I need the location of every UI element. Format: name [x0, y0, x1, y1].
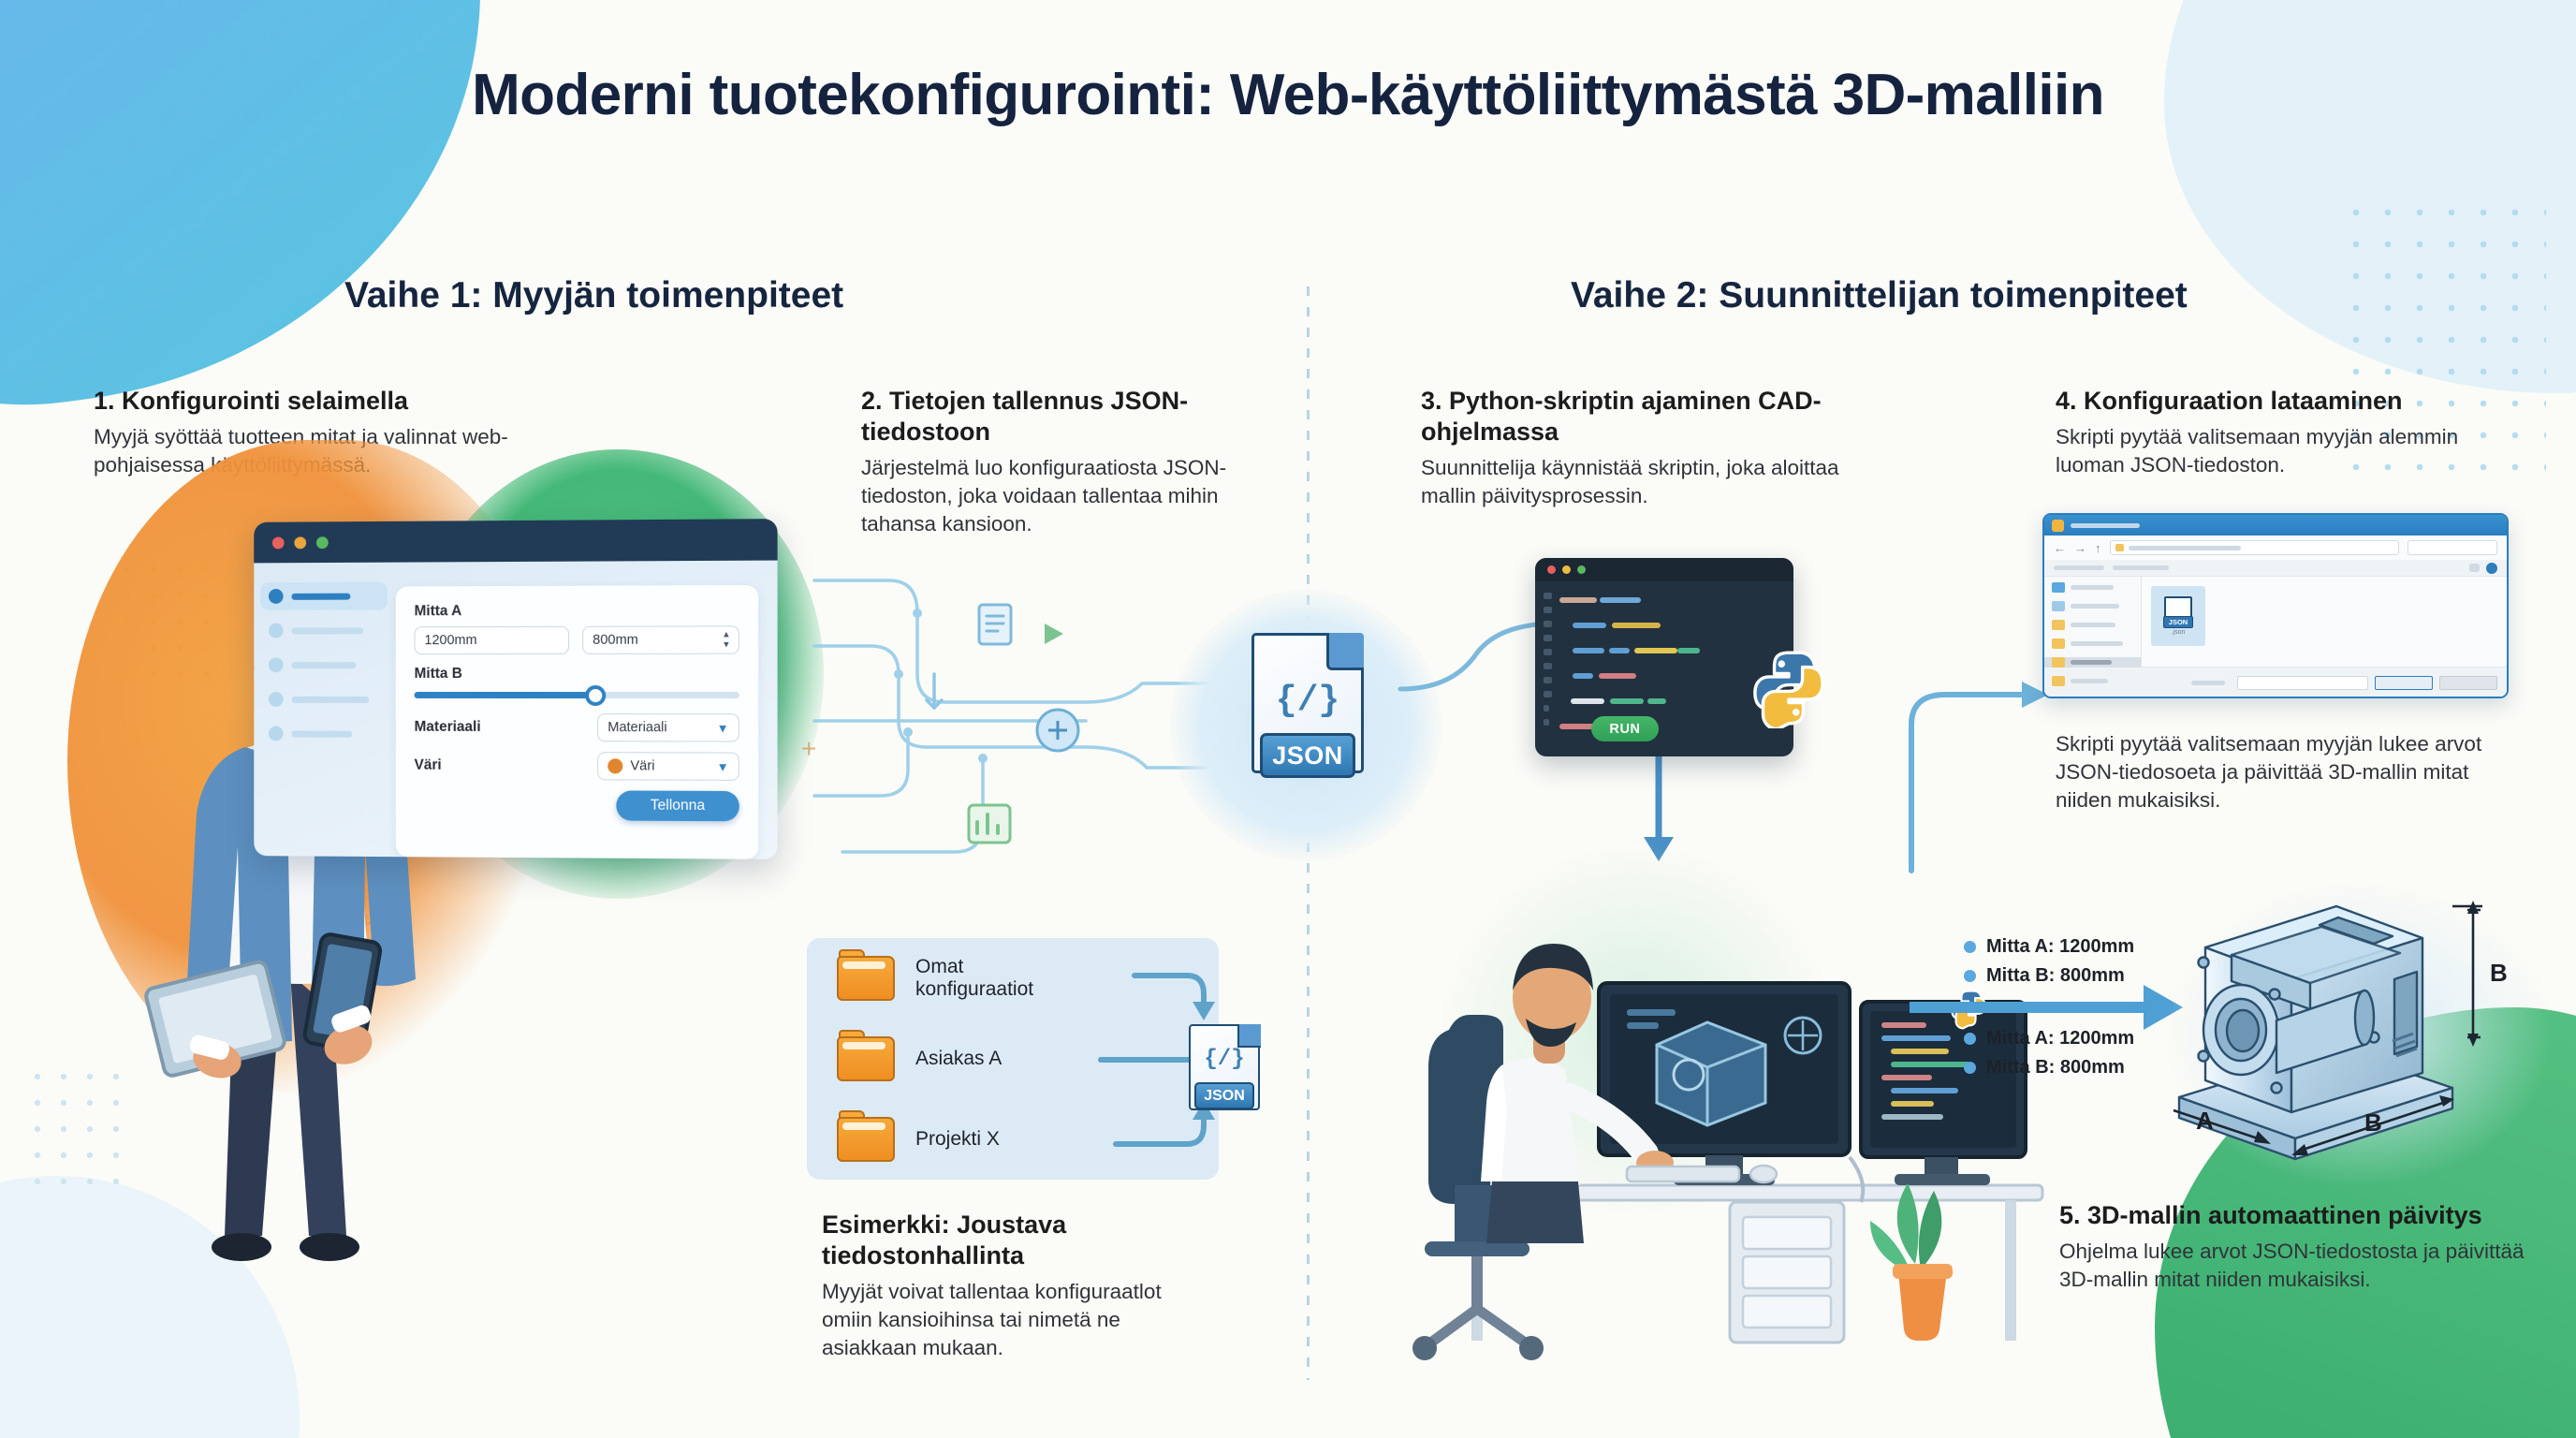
back-arrow-icon[interactable]: ← [2054, 541, 2066, 555]
code-line [1559, 617, 1782, 634]
search-input[interactable] [2408, 540, 2497, 555]
mitta-a-value: 1200mm [424, 633, 476, 648]
slider-knob[interactable] [585, 684, 606, 705]
chevron-down-icon: ▼ [717, 721, 729, 735]
sidebar-item[interactable] [269, 692, 379, 707]
mitta-b-label: Mitta B [415, 666, 739, 682]
sidebar-label-placeholder [291, 593, 350, 599]
color-swatch-icon [607, 758, 622, 773]
window-close-icon[interactable] [272, 536, 285, 549]
step-5-heading: 5. 3D-mallin automaattinen päivitys [2059, 1200, 2527, 1231]
json-file-tag: JSON [1194, 1082, 1254, 1109]
code-braces-icon: {/} [1191, 1047, 1258, 1072]
example-block: Esimerkki: Joustava tiedostonhallinta My… [822, 1210, 1215, 1362]
vari-row: Väri Väri ▼ [415, 752, 739, 781]
bullet-icon [1964, 1033, 1976, 1045]
json-file-page: {/} JSON [1189, 1024, 1260, 1110]
page-title: Moderni tuotekonfigurointi: Web-käyttöli… [0, 62, 2576, 128]
folder-icon [837, 1036, 895, 1081]
editor-title-bar [1535, 558, 1793, 581]
configurator-form: Mitta A 1200mm 800mm ▴▾ Mitta B Mat [396, 585, 758, 859]
measurement-text: Mitta A: 1200mm [1986, 1028, 2134, 1049]
file-open-dialog[interactable]: ← → ↑ [2042, 513, 2509, 698]
configurator-sidebar [254, 563, 392, 857]
mitta-a-label: Mitta A [415, 602, 739, 620]
browser-content: Mitta A 1200mm 800mm ▴▾ Mitta B Mat [254, 561, 777, 859]
bullet-icon [1964, 970, 1976, 982]
configurator-browser-window[interactable]: Mitta A 1200mm 800mm ▴▾ Mitta B Mat [254, 519, 777, 859]
phase-1-heading: Vaihe 1: Myyjän toimenpiteet [344, 275, 843, 316]
measurement-text: Mitta B: 800mm [1986, 965, 2125, 987]
step-5-body: Ohjelma lukee arvot JSON-tiedostosta ja … [2059, 1238, 2527, 1294]
3d-model-illustration: B A B [2172, 889, 2565, 1170]
window-close-icon[interactable] [1547, 565, 1556, 574]
json-file-item[interactable]: JSON .json [2151, 586, 2205, 646]
sidebar-bullet-icon [269, 692, 284, 707]
mitta-a-stepper[interactable]: 800mm ▴▾ [582, 625, 739, 654]
step-4-body: Skripti pyytää valitsemaan myyjän alemmi… [2056, 423, 2514, 479]
phase-2-heading: Vaihe 2: Suunnittelijan toimenpiteet [1571, 275, 2188, 316]
window-minimize-icon[interactable] [294, 536, 306, 549]
step-5-block: 5. 3D-mallin automaattinen päivitys Ohje… [2059, 1200, 2527, 1294]
dialog-title-bar [2044, 515, 2507, 536]
mitta-a-value-2: 800mm [593, 633, 638, 648]
forward-arrow-icon[interactable]: → [2074, 541, 2086, 555]
file-type-tag: JSON [2163, 616, 2193, 628]
stepper-arrows-icon[interactable]: ▴▾ [724, 629, 729, 650]
slider-fill [415, 692, 599, 698]
code-line [1559, 592, 1782, 609]
path-text-placeholder [2129, 546, 2241, 550]
bullet-icon [1964, 1062, 1976, 1074]
materiaali-row: Materiaali Materiaali ▼ [415, 713, 739, 742]
materiaali-label: Materiaali [415, 719, 481, 736]
view-menu-placeholder[interactable] [2113, 565, 2169, 570]
materiaali-value: Materiaali [607, 720, 666, 735]
sidebar-item[interactable] [2052, 676, 2141, 686]
mitta-a-input[interactable]: 1200mm [415, 626, 569, 654]
sidebar-item[interactable] [2052, 638, 2141, 649]
dialog-sidebar [2044, 577, 2142, 667]
sidebar-label-placeholder [291, 627, 363, 634]
dimension-label-b-side: B [2490, 959, 2508, 987]
sidebar-item-active[interactable] [260, 582, 388, 610]
dimension-label-a: A [2196, 1107, 2214, 1135]
step-3-block: 3. Python-skriptin ajaminen CAD-ohjelmas… [1421, 386, 1861, 510]
measurement-text: Mitta B: 800mm [1986, 1057, 2125, 1078]
vari-value: Väri [630, 758, 654, 773]
page-fold-icon [1237, 1024, 1261, 1048]
sidebar-item[interactable] [269, 657, 379, 672]
step-2-heading: 2. Tietojen tallennus JSON-tiedostoon [861, 386, 1236, 448]
step-4-block: 4. Konfiguraation lataaminen Skripti pyy… [2056, 386, 2514, 479]
vari-select[interactable]: Väri ▼ [597, 752, 739, 781]
sidebar-item[interactable] [269, 623, 379, 638]
designer-workstation-illustration [1359, 824, 2071, 1386]
measurement-text: Mitta A: 1200mm [1986, 936, 2134, 958]
editor-gutter [1544, 593, 1552, 733]
up-arrow-icon[interactable]: ↑ [2095, 541, 2101, 555]
measurements-group-1: Mitta A: 1200mm Mitta B: 800mm [1964, 936, 2134, 994]
folder-icon [837, 956, 895, 1001]
python-logo-icon [1749, 648, 1829, 728]
sidebar-bullet-icon [269, 624, 284, 638]
measurements-group-2: Mitta A: 1200mm Mitta B: 800mm [1964, 1028, 2134, 1086]
materiaali-select[interactable]: Materiaali ▼ [597, 713, 739, 741]
sidebar-item[interactable] [2052, 620, 2141, 630]
sidebar-bullet-icon [269, 726, 284, 741]
json-file-page: {/} JSON [1251, 633, 1364, 773]
measurement-item: Mitta B: 800mm [1964, 1057, 2134, 1078]
layout-toggle-icon[interactable] [2469, 564, 2480, 572]
run-button[interactable]: RUN [1591, 716, 1659, 741]
sidebar-bullet-icon [269, 657, 284, 672]
step-4-secondary-body: Skripti pyytää valitsemaan myyjän lukee … [2056, 730, 2524, 814]
dialog-main: JSON .json [2044, 577, 2507, 667]
dialog-file-list: JSON .json [2142, 577, 2507, 667]
json-file-tag: JSON [1260, 733, 1355, 778]
window-minimize-icon[interactable] [1562, 565, 1571, 574]
code-braces-icon: {/} [1254, 681, 1361, 721]
sidebar-item[interactable] [2052, 582, 2141, 593]
submit-button[interactable]: Tellonna [616, 790, 739, 821]
filename-input[interactable] [2237, 676, 2368, 690]
organize-menu-placeholder[interactable] [2054, 565, 2104, 570]
measurement-item: Mitta A: 1200mm [1964, 1028, 2134, 1049]
step-3-heading: 3. Python-skriptin ajaminen CAD-ohjelmas… [1421, 386, 1861, 448]
browser-title-bar [254, 519, 777, 563]
json-file-icon: {/} JSON [1230, 633, 1385, 820]
folder-icon [2052, 520, 2064, 532]
folder-label: Projekti X [915, 1128, 1000, 1151]
window-maximize-icon[interactable] [316, 536, 329, 549]
chevron-down-icon: ▼ [717, 759, 729, 773]
infographic-canvas: + + + Moderni tuotekonfigurointi: Web-kä… [0, 0, 2576, 1438]
measurement-item: Mitta A: 1200mm [1964, 936, 2134, 958]
submit-row: Tellonna [415, 790, 739, 822]
sidebar-item[interactable] [2052, 601, 2141, 611]
step-3-body: Suunnittelija käynnistää skriptin, joka … [1421, 454, 1861, 510]
cancel-button[interactable] [2439, 676, 2497, 690]
background-blob-top-right [2164, 0, 2576, 393]
sidebar-item-selected[interactable] [2044, 657, 2141, 668]
sidebar-item[interactable] [269, 726, 379, 741]
step-4-secondary-block: Skripti pyytää valitsemaan myyjän lukee … [2056, 730, 2524, 814]
folder-label: Asiakas A [915, 1048, 1002, 1070]
file-name: .json [2172, 629, 2186, 636]
sidebar-label-placeholder [291, 662, 356, 668]
folder-examples-panel: Omatkonfiguraatiot Asiakas A Projekti X … [807, 938, 1219, 1180]
example-heading: Esimerkki: Joustava tiedostonhallinta [822, 1210, 1215, 1271]
help-icon[interactable] [2486, 563, 2497, 574]
folder-icon [837, 1117, 895, 1162]
dialog-toolbar [2044, 560, 2507, 577]
dimension-label-b-bottom: B [2364, 1108, 2382, 1137]
page-fold-icon [1326, 633, 1364, 670]
step-4-heading: 4. Konfiguraation lataaminen [2056, 386, 2514, 417]
example-body: Myyjät voivat tallentaa konfiguraatlot o… [822, 1278, 1215, 1362]
dialog-nav-bar: ← → ↑ [2044, 536, 2507, 560]
step-2-block: 2. Tietojen tallennus JSON-tiedostoon Jä… [861, 386, 1236, 538]
sidebar-label-placeholder [291, 696, 369, 702]
sidebar-label-placeholder [291, 730, 352, 737]
measurement-item: Mitta B: 800mm [1964, 965, 2134, 987]
path-breadcrumb[interactable] [2110, 540, 2400, 555]
bullet-icon [1964, 941, 1976, 953]
json-file-icon-small: {/} JSON [1176, 1024, 1273, 1135]
mitta-b-slider[interactable] [415, 692, 739, 698]
dialog-title-placeholder [2071, 523, 2140, 528]
step-1-heading: 1. Konfigurointi selaimella [94, 386, 580, 417]
vari-label: Väri [415, 757, 442, 774]
open-button[interactable] [2375, 676, 2433, 690]
filename-label-placeholder [2191, 681, 2225, 685]
window-maximize-icon[interactable] [1577, 565, 1586, 574]
mitta-a-row: 1200mm 800mm ▴▾ [415, 625, 739, 654]
file-page-icon: JSON [2164, 596, 2192, 628]
sidebar-bullet-icon [269, 589, 284, 604]
